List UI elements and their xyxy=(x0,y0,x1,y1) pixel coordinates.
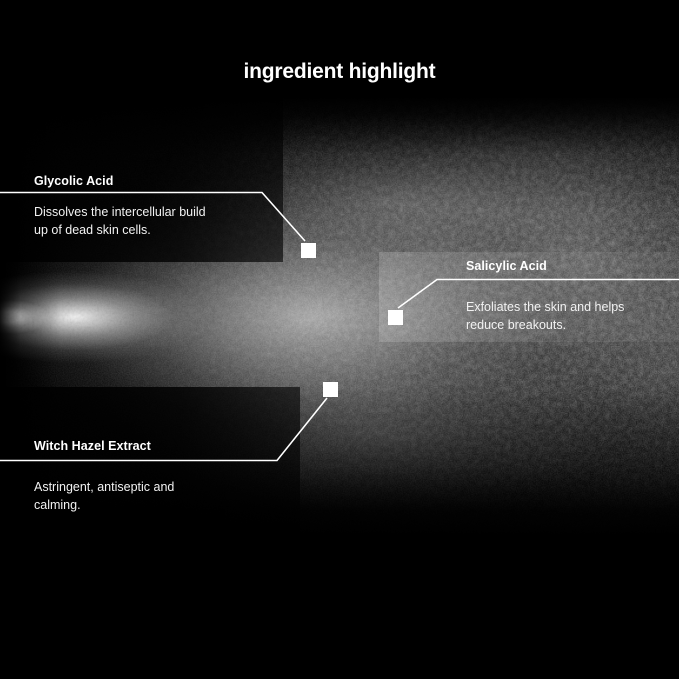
marker-square-glycolic[interactable] xyxy=(301,243,316,258)
marker-square-salicylic[interactable] xyxy=(388,310,403,325)
page-title: ingredient highlight xyxy=(0,59,679,85)
callout-heading-glycolic: Glycolic Acid xyxy=(34,174,113,188)
marker-square-witchhazel[interactable] xyxy=(323,382,338,397)
ingredient-highlight-infographic: ingredient highlight Glycolic Acid Disso… xyxy=(0,0,679,679)
callout-heading-witchhazel: Witch Hazel Extract xyxy=(34,439,151,453)
callout-body-salicylic: Exfoliates the skin and helps reduce bre… xyxy=(466,299,624,334)
callout-heading-salicylic: Salicylic Acid xyxy=(466,259,547,273)
callout-body-glycolic: Dissolves the intercellular build up of … xyxy=(34,204,206,239)
text-scrim-lower-left xyxy=(0,387,300,537)
callout-body-witchhazel: Astringent, antiseptic and calming. xyxy=(34,479,174,514)
